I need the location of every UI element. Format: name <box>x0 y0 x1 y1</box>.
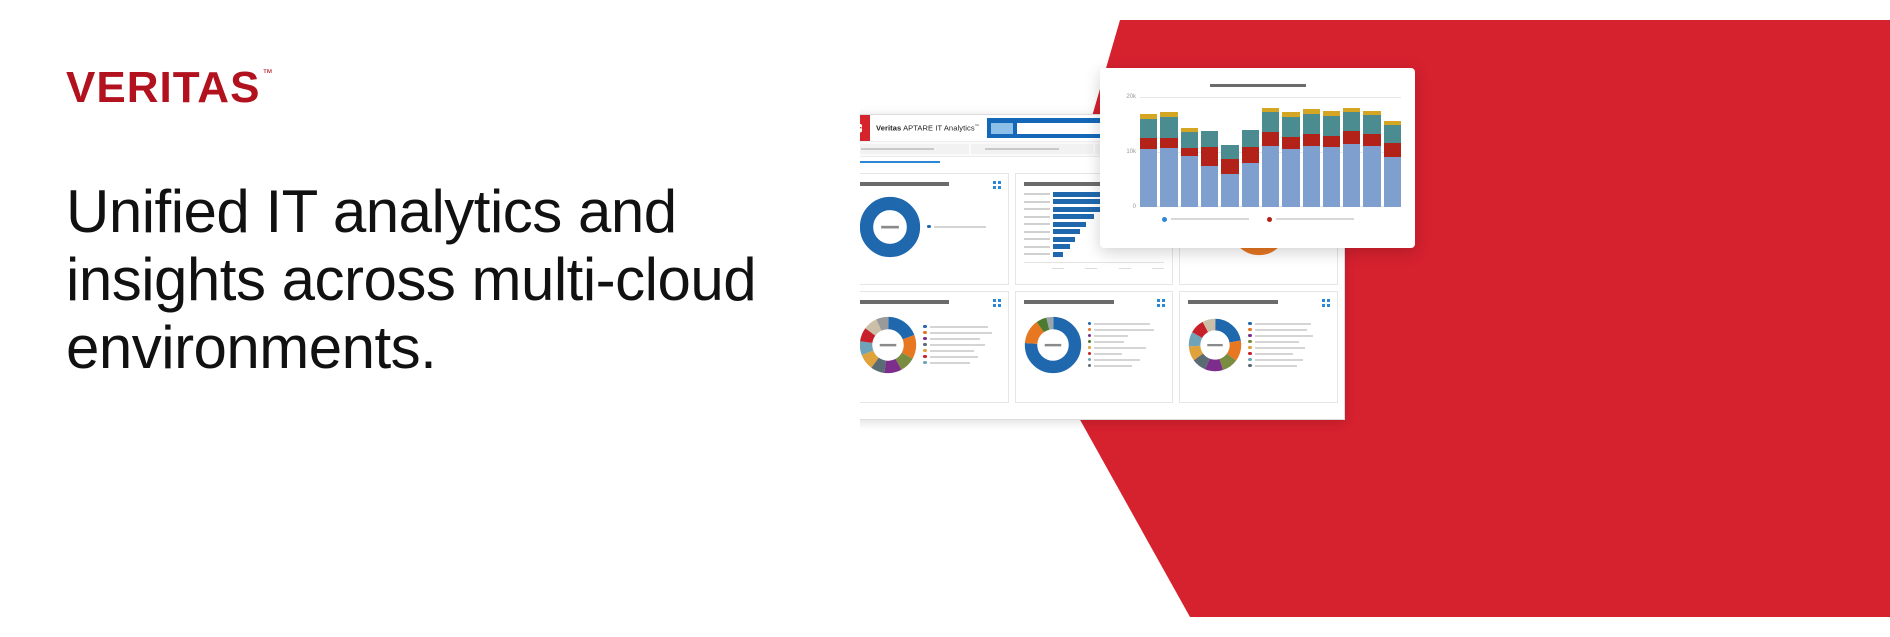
bar-segment-series-3 <box>1343 112 1360 131</box>
bar-segment-series-2 <box>1384 143 1401 157</box>
bar-segment-series-2 <box>1363 134 1380 146</box>
bar-segment-series-3 <box>1303 114 1320 135</box>
legend-item <box>1248 364 1329 368</box>
widget-card-utilization-donut[interactable] <box>1179 291 1338 403</box>
x-axis-line <box>1024 262 1165 263</box>
y-tick-label: 0 <box>1133 204 1136 210</box>
nav-tab-2[interactable] <box>971 144 1094 154</box>
floating-card-title <box>1210 84 1306 87</box>
page-title: Unified IT analytics and insights across… <box>66 178 806 382</box>
veritas-logo-wordmark: VERITAS <box>66 66 260 110</box>
headline-line-2: insights across multi-cloud <box>66 246 806 314</box>
bar-segment-series-1 <box>1343 144 1360 207</box>
bar-segment-series-1 <box>1303 146 1320 207</box>
bar-segment-series-1 <box>1242 163 1259 207</box>
stacked-bar <box>1363 111 1380 207</box>
drag-handle-icon[interactable] <box>993 181 1001 189</box>
legend-item <box>1248 346 1329 350</box>
stacked-bar <box>1384 121 1401 206</box>
donut-legend <box>921 225 1000 229</box>
legend-item <box>1248 340 1329 344</box>
legend-label <box>1171 218 1249 220</box>
stacked-bar <box>1201 131 1218 207</box>
drag-handle-icon[interactable] <box>1322 299 1330 307</box>
donut-legend <box>1242 322 1329 368</box>
bar-segment-series-2 <box>1242 147 1259 162</box>
bar-segment-series-3 <box>1262 112 1279 132</box>
app-title: Veritas APTARE IT Analytics™ <box>876 123 979 133</box>
bar-segment-series-2 <box>1282 137 1299 149</box>
legend-item <box>923 331 1000 335</box>
y-tick-label: 10k <box>1126 149 1136 155</box>
stacked-bar <box>1303 109 1320 207</box>
legend-item <box>1088 328 1165 332</box>
stacked-bar <box>1242 130 1259 207</box>
bar-segment-series-3 <box>1221 145 1238 158</box>
bar-segment-series-3 <box>1384 125 1401 143</box>
chart-legend <box>1114 217 1401 222</box>
search-scope-tag[interactable] <box>991 123 1013 134</box>
nav-tab-1[interactable] <box>846 144 969 154</box>
veritas-logo: VERITAS ™ <box>66 66 272 110</box>
legend-item <box>1088 322 1165 326</box>
donut-chart <box>859 196 921 258</box>
bar-segment-series-2 <box>1140 138 1157 149</box>
donut-chart <box>859 316 917 374</box>
legend-item <box>923 349 1000 353</box>
stacked-bar-chart: 20k 10k 0 <box>1114 97 1401 207</box>
bar-segment-series-3 <box>1140 119 1157 139</box>
drag-handle-icon[interactable] <box>1157 299 1165 307</box>
bar-segment-series-3 <box>1363 115 1380 134</box>
stacked-bar <box>1140 114 1157 207</box>
stacked-bar <box>1323 111 1340 206</box>
legend-item <box>1248 352 1329 356</box>
bar-segment-series-2 <box>1323 136 1340 147</box>
app-title-brand: Veritas <box>876 124 901 133</box>
drag-handle-icon[interactable] <box>993 299 1001 307</box>
stacked-bar <box>1343 108 1360 207</box>
x-axis-ticks <box>1024 268 1165 270</box>
widget-card-status-donut[interactable] <box>1015 291 1174 403</box>
legend-item <box>923 337 1000 341</box>
veritas-logo-trademark: ™ <box>262 68 272 79</box>
bar-segment-series-3 <box>1181 132 1198 149</box>
bar-segment-series-1 <box>1363 146 1380 207</box>
donut-chart <box>1024 316 1082 374</box>
bar-segment-series-1 <box>1262 146 1279 207</box>
legend-item <box>1088 352 1165 356</box>
legend-item <box>1088 340 1165 344</box>
bar-segment-series-2 <box>1221 159 1238 174</box>
stacked-bar <box>1262 108 1279 206</box>
legend-item <box>927 225 1000 229</box>
legend-item <box>1088 364 1165 368</box>
app-title-product: APTARE IT Analytics <box>901 124 974 133</box>
donut-legend <box>1082 322 1165 368</box>
legend-item <box>1088 346 1165 350</box>
bar-segment-series-2 <box>1201 147 1218 166</box>
bar-segment-series-1 <box>1160 148 1177 206</box>
bar-segment-series-1 <box>1181 156 1198 207</box>
legend-item <box>1088 334 1165 338</box>
donut-chart <box>1188 318 1242 372</box>
widget-card-single-value-donut[interactable] <box>850 173 1009 285</box>
bars-area <box>1140 97 1401 207</box>
bar-segment-series-2 <box>1160 138 1177 148</box>
bar-segment-series-3 <box>1242 130 1259 148</box>
headline-line-3: environments. <box>66 314 806 382</box>
legend-item <box>923 361 1000 365</box>
legend-item <box>923 325 1000 329</box>
bar-segment-series-2 <box>1343 131 1360 144</box>
legend-item <box>1248 328 1329 332</box>
y-axis: 20k 10k 0 <box>1114 97 1140 207</box>
stacked-bar <box>1282 112 1299 206</box>
bar-segment-series-2 <box>1262 132 1279 146</box>
bar-segment-series-1 <box>1282 149 1299 206</box>
bar-segment-series-1 <box>1384 157 1401 207</box>
hero-panel: VERITAS ™ Unified IT analytics and insig… <box>0 0 860 637</box>
bar-segment-series-3 <box>1160 117 1177 137</box>
bar-segment-series-2 <box>1303 134 1320 146</box>
legend-item <box>923 343 1000 347</box>
app-title-trademark: ™ <box>975 123 979 128</box>
bar-segment-series-1 <box>1221 174 1238 207</box>
donut-legend <box>917 325 1000 365</box>
floating-stacked-bar-card[interactable]: 20k 10k 0 <box>1100 68 1415 248</box>
bar-segment-series-3 <box>1282 117 1299 137</box>
legend-item <box>1088 358 1165 362</box>
bar-segment-series-3 <box>1201 131 1218 148</box>
widget-card-distribution-donut[interactable] <box>850 291 1009 403</box>
bar-segment-series-3 <box>1323 116 1340 136</box>
legend-label <box>1276 218 1354 220</box>
legend-item <box>923 355 1000 359</box>
legend-dot <box>1267 217 1272 222</box>
bar-segment-series-1 <box>1140 149 1157 206</box>
y-tick-label: 20k <box>1126 94 1136 100</box>
legend-item <box>1248 334 1329 338</box>
legend-item <box>1248 322 1329 326</box>
legend-item <box>1248 358 1329 362</box>
headline-line-1: Unified IT analytics and <box>66 178 806 246</box>
stacked-bar <box>1160 112 1177 206</box>
bar-segment-series-2 <box>1181 148 1198 156</box>
stacked-bar <box>1181 128 1198 207</box>
legend-dot <box>1162 217 1167 222</box>
stacked-bar <box>1221 145 1238 206</box>
bar-segment-series-1 <box>1323 147 1340 206</box>
bar-segment-series-1 <box>1201 166 1218 207</box>
bar-row <box>1024 252 1165 257</box>
